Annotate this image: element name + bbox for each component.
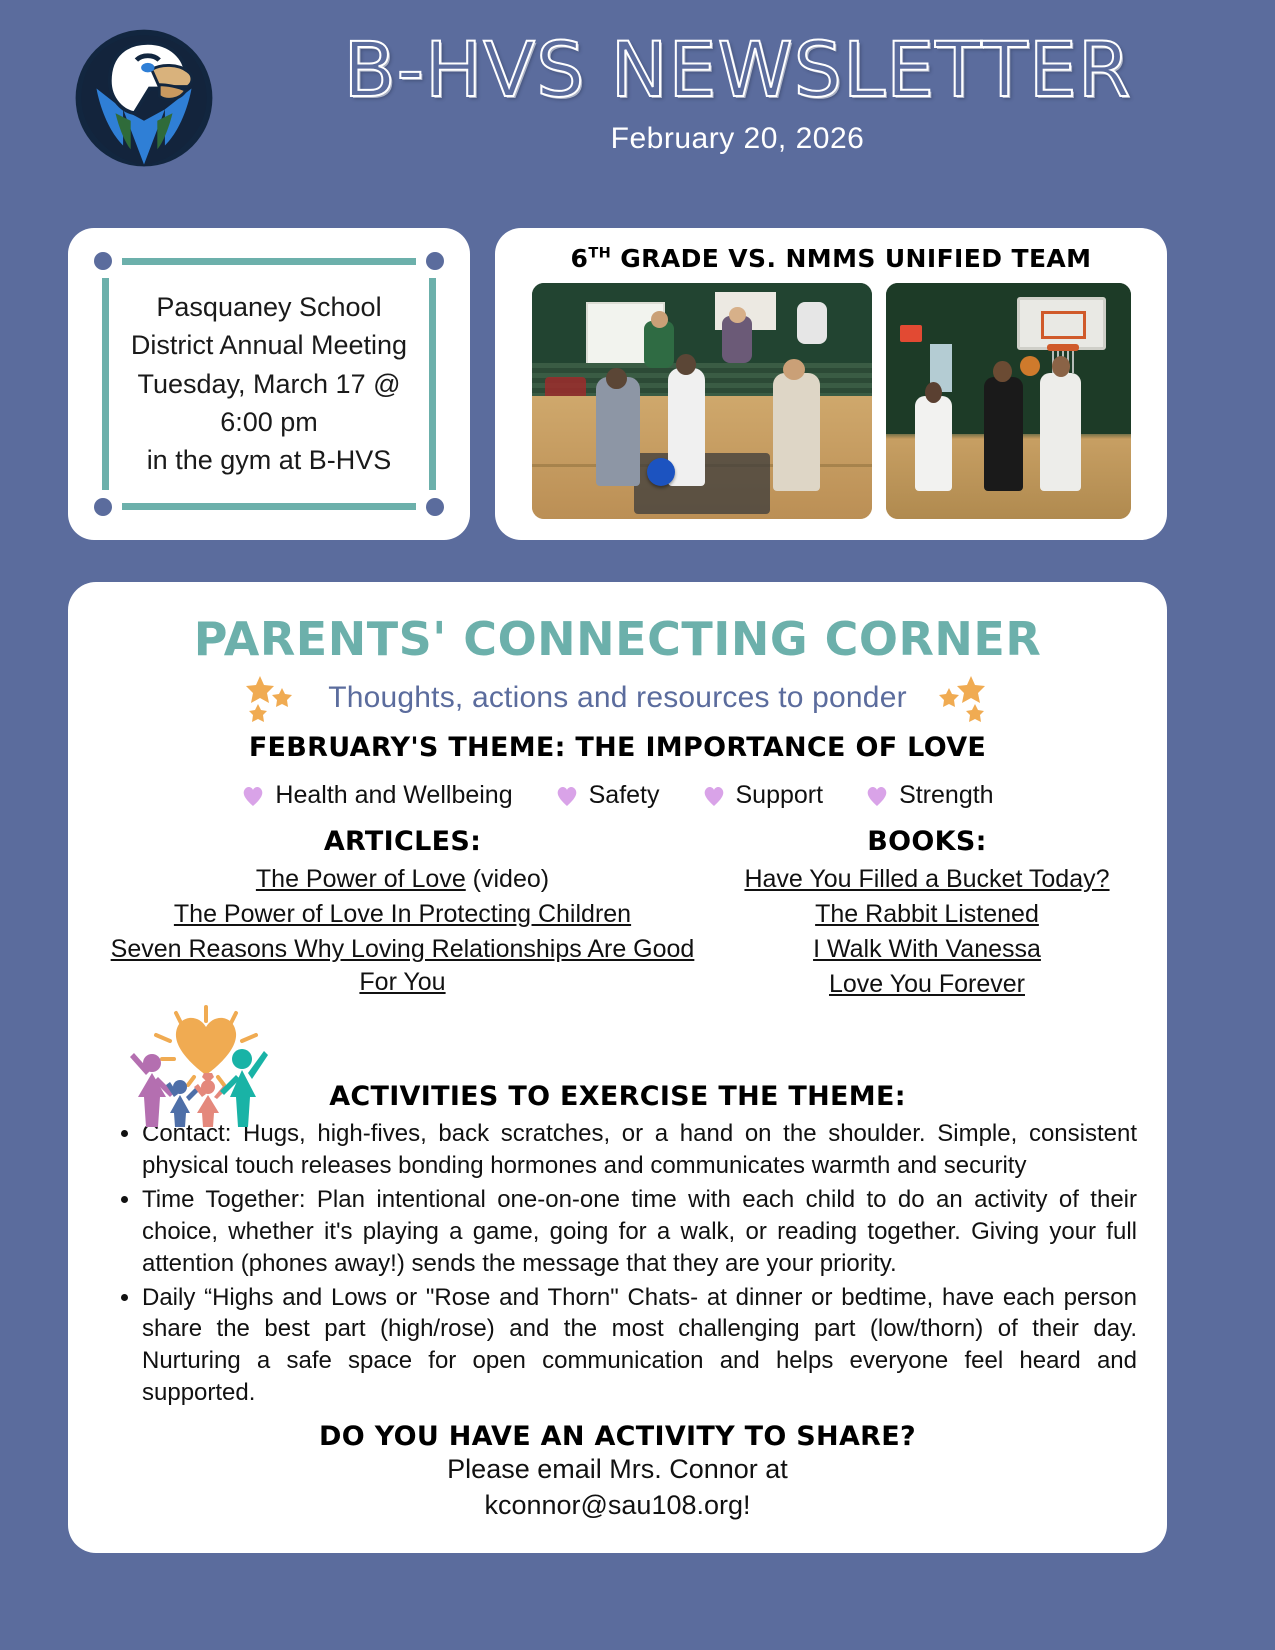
share-email[interactable]: kconnor@sau108.org! xyxy=(98,1488,1137,1524)
value-label: Health and Wellbeing xyxy=(275,781,512,810)
photos-heading-sup: TH xyxy=(588,246,611,262)
share-line-1: Please email Mrs. Connor at xyxy=(98,1452,1137,1488)
frame-line-bottom xyxy=(122,503,416,510)
page-title: B-HVS NEWSLETTER xyxy=(240,32,1235,108)
articles-heading: ARTICLES: xyxy=(98,826,707,857)
heart-icon xyxy=(241,785,265,807)
books-heading: BOOKS: xyxy=(717,826,1137,857)
value-label: Safety xyxy=(589,781,660,810)
value-label: Strength xyxy=(899,781,994,810)
photos-row xyxy=(509,283,1153,519)
book-item: I Walk With Vanessa xyxy=(717,933,1137,966)
value-item-2: Support xyxy=(702,781,824,810)
article-suffix: (video) xyxy=(466,865,549,893)
articles-column: ARTICLES: The Power of Love (video) The … xyxy=(98,826,707,1001)
article-item: The Power of Love In Protecting Children xyxy=(98,898,707,931)
family-heart-illustration-icon xyxy=(116,1001,296,1129)
eagle-mascot-logo xyxy=(68,22,220,174)
value-item-1: Safety xyxy=(555,781,660,810)
announcement-text: Pasquaney School District Annual Meeting… xyxy=(128,288,410,480)
activity-bullet: Daily “Highs and Lows or "Rose and Thorn… xyxy=(142,1282,1137,1410)
value-item-3: Strength xyxy=(865,781,994,810)
frame-line-left xyxy=(102,278,109,490)
photos-card: 6TH GRADE VS. NMMS UNIFIED TEAM xyxy=(495,228,1167,540)
activity-bullet: Time Together: Plan intentional one-on-o… xyxy=(142,1184,1137,1280)
newsletter-header: B-HVS NEWSLETTER February 20, 2026 xyxy=(0,0,1275,205)
article-item: Seven Reasons Why Loving Relationships A… xyxy=(98,933,707,999)
subtitle-row: Thoughts, actions and resources to ponde… xyxy=(98,674,1137,722)
corner-dot-bottom-right xyxy=(426,498,444,516)
corner-dot-top-left xyxy=(94,252,112,270)
top-row: Pasquaney School District Annual Meeting… xyxy=(0,228,1275,548)
article-item: The Power of Love (video) xyxy=(98,863,707,896)
book-link[interactable]: Love You Forever xyxy=(829,970,1025,998)
book-item: Have You Filled a Bucket Today? xyxy=(717,863,1137,896)
heart-icon xyxy=(702,785,726,807)
parents-connecting-corner-card: PARENTS' CONNECTING CORNER Thoughts, act… xyxy=(68,582,1167,1553)
share-heading: DO YOU HAVE AN ACTIVITY TO SHARE? xyxy=(98,1421,1137,1452)
book-item: The Rabbit Listened xyxy=(717,898,1137,931)
value-label: Support xyxy=(736,781,824,810)
resources-columns: ARTICLES: The Power of Love (video) The … xyxy=(98,826,1137,1003)
value-item-0: Health and Wellbeing xyxy=(241,781,512,810)
announcement-card: Pasquaney School District Annual Meeting… xyxy=(68,228,470,540)
announcement-frame: Pasquaney School District Annual Meeting… xyxy=(94,248,444,520)
photos-heading-rest: GRADE VS. NMMS UNIFIED TEAM xyxy=(611,244,1091,273)
book-item: Love You Forever xyxy=(717,968,1137,1001)
heart-icon xyxy=(865,785,889,807)
issue-date: February 20, 2026 xyxy=(240,122,1235,156)
corner-dot-bottom-left xyxy=(94,498,112,516)
book-link[interactable]: Have You Filled a Bucket Today? xyxy=(744,865,1109,893)
section-title: PARENTS' CONNECTING CORNER xyxy=(98,612,1137,666)
title-block: B-HVS NEWSLETTER February 20, 2026 xyxy=(240,32,1235,156)
activities-list: Contact: Hugs, high-fives, back scratche… xyxy=(98,1118,1137,1409)
photos-heading: 6TH GRADE VS. NMMS UNIFIED TEAM xyxy=(509,244,1153,273)
books-column: BOOKS: Have You Filled a Bucket Today? T… xyxy=(717,826,1137,1003)
section-subtitle: Thoughts, actions and resources to ponde… xyxy=(328,681,907,715)
article-link[interactable]: The Power of Love xyxy=(256,865,466,893)
frame-line-top xyxy=(122,258,416,265)
stars-icon-right xyxy=(927,674,993,722)
newsletter-page: B-HVS NEWSLETTER February 20, 2026 Pasqu… xyxy=(0,0,1275,1650)
month-theme: FEBRUARY'S THEME: THE IMPORTANCE OF LOVE xyxy=(98,732,1137,763)
gym-photo-right xyxy=(886,283,1131,519)
values-row: Health and Wellbeing Safety Support Stre… xyxy=(98,781,1137,810)
photos-heading-prefix: 6 xyxy=(571,244,589,273)
gym-photo-left xyxy=(532,283,872,519)
stars-icon-left xyxy=(242,674,308,722)
article-link[interactable]: The Power of Love In Protecting Children xyxy=(174,900,631,928)
corner-dot-top-right xyxy=(426,252,444,270)
heart-icon xyxy=(555,785,579,807)
frame-line-right xyxy=(429,278,436,490)
book-link[interactable]: The Rabbit Listened xyxy=(815,900,1039,928)
article-link[interactable]: Seven Reasons Why Loving Relationships A… xyxy=(111,935,695,996)
activities-block: ACTIVITIES TO EXERCISE THE THEME: Contac… xyxy=(98,1019,1137,1409)
book-link[interactable]: I Walk With Vanessa xyxy=(813,935,1041,963)
